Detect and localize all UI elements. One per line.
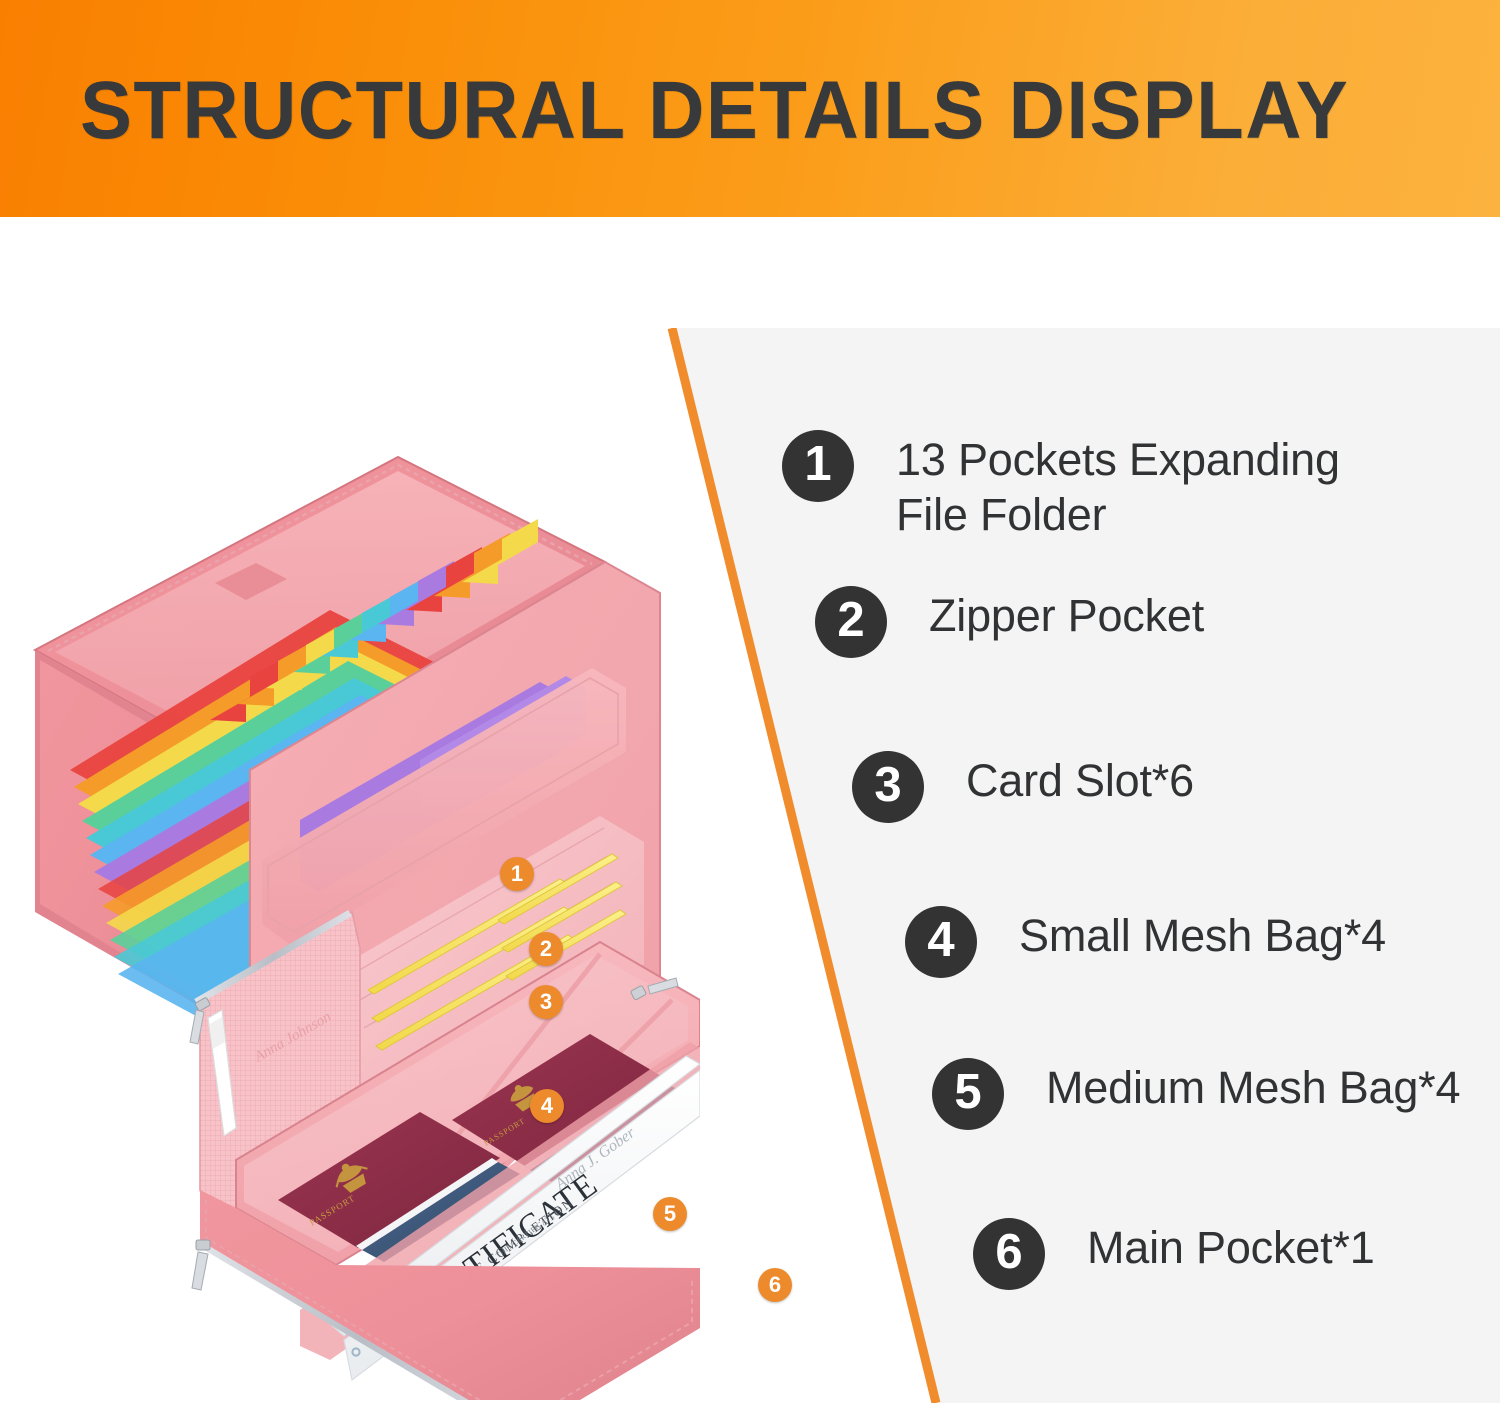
list-item-4[interactable]: 4 Small Mesh Bag*4 [905, 906, 1386, 978]
feature-badge-6: 6 [973, 1218, 1045, 1290]
feature-label-1: 13 Pockets Expanding File Folder [896, 430, 1340, 543]
infographic-canvas: STRUCTURAL DETAILS DISPLAY [0, 0, 1500, 1403]
list-item-3[interactable]: 3 Card Slot*6 [852, 751, 1194, 823]
list-item-2[interactable]: 2 Zipper Pocket [815, 586, 1204, 658]
list-item-5[interactable]: 5 Medium Mesh Bag*4 [932, 1058, 1460, 1130]
feature-list: 1 13 Pockets Expanding File Folder 2 Zip… [0, 328, 1500, 1403]
feature-label-2: Zipper Pocket [929, 586, 1204, 644]
feature-badge-1: 1 [782, 430, 854, 502]
page-title: STRUCTURAL DETAILS DISPLAY [80, 64, 1349, 158]
feature-label-3: Card Slot*6 [966, 751, 1194, 809]
feature-badge-4: 4 [905, 906, 977, 978]
feature-badge-3: 3 [852, 751, 924, 823]
list-item-6[interactable]: 6 Main Pocket*1 [973, 1218, 1375, 1290]
feature-label-5: Medium Mesh Bag*4 [1046, 1058, 1460, 1116]
list-item-1[interactable]: 1 13 Pockets Expanding File Folder [782, 430, 1340, 543]
feature-label-4: Small Mesh Bag*4 [1019, 906, 1386, 964]
feature-badge-2: 2 [815, 586, 887, 658]
feature-label-6: Main Pocket*1 [1087, 1218, 1375, 1276]
feature-badge-5: 5 [932, 1058, 1004, 1130]
header-banner: STRUCTURAL DETAILS DISPLAY [0, 0, 1500, 217]
